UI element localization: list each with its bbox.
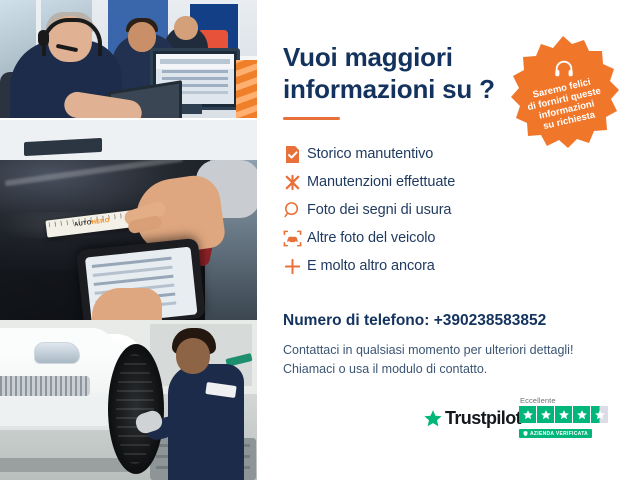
photo-2-art: AUTOHERO	[0, 160, 257, 320]
list-item-label: Manutenzioni effettuate	[307, 174, 455, 190]
verified-business-label: AZIENDA VERIFICATA	[530, 431, 588, 437]
star-filled	[519, 406, 536, 423]
grille-shape	[0, 376, 90, 396]
star-filled	[537, 406, 554, 423]
car-photo-frame-icon	[277, 229, 307, 248]
headlight-shape	[34, 342, 80, 364]
star-filled	[573, 406, 590, 423]
tire-tread-shape	[116, 354, 154, 464]
bumper-shape	[0, 398, 112, 426]
document-check-icon	[277, 145, 307, 164]
list-item: Foto dei segni di usura	[277, 196, 577, 224]
star-half	[591, 406, 608, 423]
list-item-label: Foto dei segni di usura	[307, 202, 451, 218]
car-lift-shape	[0, 458, 130, 472]
trustpilot-rating: Eccellente	[519, 396, 619, 441]
verified-business-badge: AZIENDA VERIFICATA	[519, 429, 592, 438]
contact-note: Contattaci in qualsiasi momento per ulte…	[283, 341, 573, 380]
tablet-holding-hand-shape	[92, 288, 162, 320]
star-rating	[519, 406, 619, 423]
title-divider	[283, 117, 340, 120]
car-inspection-ruler-tablet-photo: AUTOHERO	[0, 160, 257, 320]
headset-cup-shape	[38, 30, 49, 46]
trustpilot-widget[interactable]: Trustpilot Eccellente	[423, 396, 623, 446]
star-filled	[555, 406, 572, 423]
list-item-label: Storico manutentivo	[307, 146, 433, 162]
photo-strip: AUTOHERO	[0, 0, 257, 480]
shield-check-icon	[523, 431, 528, 436]
trustpilot-wordmark: Trustpilot	[445, 408, 521, 429]
monitor-stand-shape	[180, 104, 202, 114]
page-title-line-2: informazioni su ?	[283, 74, 533, 106]
trustpilot-star-icon	[423, 409, 443, 429]
list-item: Altre foto del veicolo	[277, 224, 577, 252]
list-item-label: Altre foto del veicolo	[307, 230, 435, 246]
list-item: E molto altro ancora	[277, 252, 577, 280]
list-item: Manutenzioni effettuate	[277, 168, 577, 196]
list-item-label: E molto altro ancora	[307, 258, 435, 274]
rating-label: Eccellente	[520, 396, 619, 405]
plus-icon	[277, 257, 307, 276]
photo-3-art	[0, 320, 257, 480]
contact-note-line-1: Contattaci in qualsiasi momento per ulte…	[283, 341, 573, 360]
photo-1-art	[0, 0, 257, 160]
contact-note-line-2: Chiamaci o usa il modulo di contatto.	[283, 360, 573, 379]
promo-starburst-badge: Saremo felici di fornirti queste informa…	[503, 34, 623, 154]
wrench-cross-icon	[277, 173, 307, 192]
phone-number-label: Numero di telefono: +390238583852	[283, 312, 546, 330]
mechanic-head-shape	[176, 338, 210, 374]
call-center-agents-photo	[0, 0, 257, 160]
mechanic-wheel-inspection-photo	[0, 320, 257, 480]
autohero-ruler-wordmark: AUTOHERO	[74, 218, 110, 228]
magnifier-icon	[277, 201, 307, 219]
ad-banner: AUTOHERO	[0, 0, 640, 480]
agent-three-head-shape	[174, 16, 198, 40]
trustpilot-logo[interactable]: Trustpilot	[423, 408, 521, 429]
